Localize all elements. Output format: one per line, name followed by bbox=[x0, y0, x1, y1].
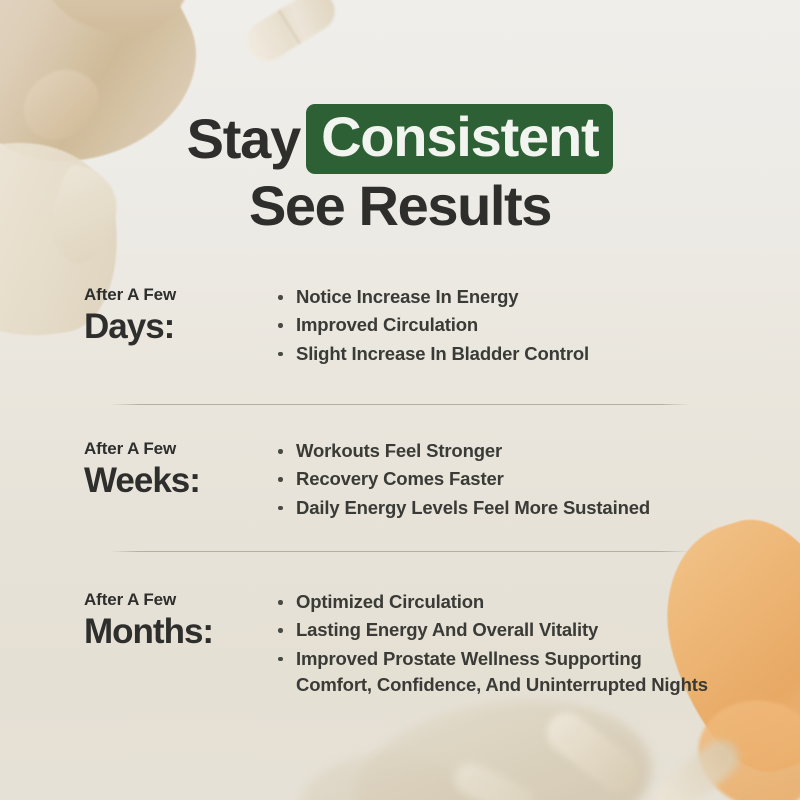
benefit-text: Workouts Feel Stronger bbox=[296, 438, 724, 464]
timeline-label-big-weeks: Weeks: bbox=[84, 461, 270, 500]
benefit-text: Improved Prostate Wellness Supporting bbox=[296, 646, 724, 672]
benefit-list-days: Notice Increase In Energy Improved Circu… bbox=[270, 283, 724, 369]
benefit-text-continuation: Comfort, Confidence, And Uninterrupted N… bbox=[296, 672, 724, 698]
timeline-label-weeks: After A Few Weeks: bbox=[84, 437, 270, 500]
list-item: Slight Increase In Bladder Control bbox=[270, 341, 724, 367]
benefit-text: Notice Increase In Energy bbox=[296, 284, 724, 310]
capsule-bottom-far-right-decoration bbox=[648, 733, 746, 800]
promo-poster: StayConsistent See Results After A Few D… bbox=[0, 0, 800, 800]
benefit-text: Recovery Comes Faster bbox=[296, 466, 724, 492]
headline-see-results: See Results bbox=[249, 174, 551, 237]
timeline-label-small-weeks: After A Few bbox=[84, 439, 270, 459]
section-divider bbox=[110, 404, 690, 405]
timeline-label-small-months: After A Few bbox=[84, 590, 270, 610]
list-item: Improved Prostate Wellness Supporting Co… bbox=[270, 646, 724, 699]
timeline-label-big-days: Days: bbox=[84, 307, 270, 346]
benefit-text: Slight Increase In Bladder Control bbox=[296, 341, 724, 367]
benefit-text: Lasting Energy And Overall Vitality bbox=[296, 617, 724, 643]
benefit-text: Daily Energy Levels Feel More Sustained bbox=[296, 495, 724, 521]
ginger-root-bottom-decoration bbox=[345, 687, 659, 800]
benefit-text: Improved Circulation bbox=[296, 312, 724, 338]
headline-word-stay: Stay bbox=[187, 107, 301, 170]
timeline-section-days: After A Few Days: Notice Increase In Ene… bbox=[84, 283, 724, 369]
capsule-bottom-right-decoration bbox=[539, 704, 646, 800]
ginger-root-bottom-lobe bbox=[292, 740, 495, 800]
capsule-bottom-center-decoration bbox=[449, 757, 539, 800]
list-item: Recovery Comes Faster bbox=[270, 466, 724, 492]
timeline-section-weeks: After A Few Weeks: Workouts Feel Stronge… bbox=[84, 437, 724, 523]
benefit-list-weeks: Workouts Feel Stronger Recovery Comes Fa… bbox=[270, 437, 724, 523]
capsule-top-center-decoration bbox=[240, 0, 343, 68]
list-item: Workouts Feel Stronger bbox=[270, 438, 724, 464]
list-item: Improved Circulation bbox=[270, 312, 724, 338]
ginger-root-top-left-lobe bbox=[26, 0, 208, 52]
headline-line-2: See Results bbox=[0, 178, 800, 234]
timeline-label-small-days: After A Few bbox=[84, 285, 270, 305]
list-item: Daily Energy Levels Feel More Sustained bbox=[270, 495, 724, 521]
headline-line-1: StayConsistent bbox=[0, 104, 800, 174]
timeline-label-days: After A Few Days: bbox=[84, 283, 270, 346]
timeline-label-months: After A Few Months: bbox=[84, 588, 270, 651]
list-item: Lasting Energy And Overall Vitality bbox=[270, 617, 724, 643]
timeline-label-big-months: Months: bbox=[84, 612, 270, 651]
list-item: Notice Increase In Energy bbox=[270, 284, 724, 310]
list-item: Optimized Circulation bbox=[270, 589, 724, 615]
timeline-section-months: After A Few Months: Optimized Circulatio… bbox=[84, 588, 724, 700]
benefit-list-months: Optimized Circulation Lasting Energy And… bbox=[270, 588, 724, 700]
benefit-text: Optimized Circulation bbox=[296, 589, 724, 615]
turmeric-root-right-lobe bbox=[688, 689, 800, 800]
section-divider bbox=[110, 551, 690, 552]
headline-highlight-consistent: Consistent bbox=[306, 104, 613, 174]
headline: StayConsistent See Results bbox=[0, 104, 800, 234]
